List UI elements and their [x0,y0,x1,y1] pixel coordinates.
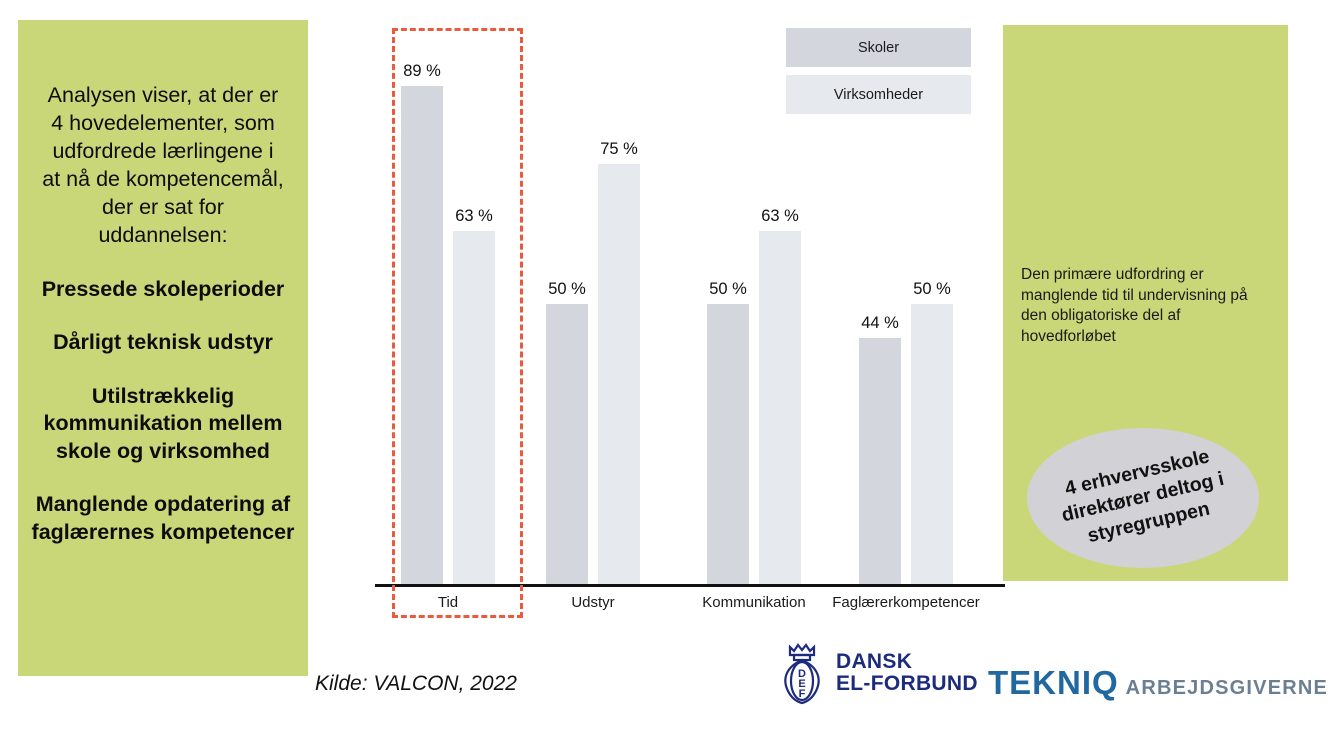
right-panel-note: Den primære udfordring er manglende tid … [1021,265,1266,347]
bar-value-label: 89 % [392,62,452,81]
bar-value-label: 50 % [537,280,597,299]
legend-label: Virksomheder [834,87,923,103]
tekniq-logo: TEKNIQ ARBEJDSGIVERNE [988,664,1328,702]
legend-label: Skoler [858,40,899,56]
key-element-4: Manglende opdatering af faglærernes komp… [30,491,296,546]
legend-item-skoler[interactable]: Skoler [786,28,971,67]
chart-legend: Skoler Virksomheder [786,28,971,122]
bar-value-label: 50 % [902,280,962,299]
bar-tid-virksomheder[interactable] [453,231,495,584]
bar-value-label: 75 % [589,140,649,159]
tekniq-subtitle: ARBEJDSGIVERNE [1126,677,1328,700]
category-label-faglærerkompetencer: Faglærerkompetencer [816,594,996,611]
intro-line: der er sat for [30,194,296,222]
source-note: Kilde: VALCON, 2022 [315,672,517,696]
x-axis-line [375,584,1005,587]
category-label-udstyr: Udstyr [503,594,683,611]
intro-line: at nå de kompetencemål, [30,166,296,194]
dansk-el-forbund-logo: D E F DANSK EL-FORBUND [776,641,978,705]
bar-tid-skoler[interactable] [401,86,443,584]
bar-value-label: 50 % [698,280,758,299]
callout-ellipse: 4 erhvervsskole direktører deltog i styr… [1027,428,1259,568]
bar-value-label: 63 % [750,207,810,226]
key-element-2: Dårligt teknisk udstyr [30,329,296,357]
bar-value-label: 44 % [850,314,910,333]
bar-faglærerkompetencer-skoler[interactable] [859,338,901,584]
def-line2: EL-FORBUND [836,673,978,695]
intro-line: uddannelsen: [30,222,296,250]
intro-line: 4 hovedelementer, som [30,110,296,138]
bar-udstyr-virksomheder[interactable] [598,164,640,584]
legend-item-virksomheder[interactable]: Virksomheder [786,75,971,114]
bar-kommunikation-virksomheder[interactable] [759,231,801,584]
bar-udstyr-skoler[interactable] [546,304,588,584]
intro-line: udfordrede lærlingene i [30,138,296,166]
slide-root: Analysen viser, at der er 4 hovedelement… [0,0,1333,750]
key-element-3: Utilstrækkelig kommunikation mellem skol… [30,383,296,466]
def-wordmark: DANSK EL-FORBUND [836,651,978,695]
callout-text: 4 erhvervsskole direktører deltog i styr… [1027,428,1259,568]
left-green-panel: Analysen viser, at der er 4 hovedelement… [18,20,308,676]
bar-kommunikation-skoler[interactable] [707,304,749,584]
svg-text:F: F [799,688,806,700]
left-panel-text: Analysen viser, at der er 4 hovedelement… [30,82,296,546]
tekniq-wordmark: TEKNIQ [988,664,1119,702]
bar-faglærerkompetencer-virksomheder[interactable] [911,304,953,584]
intro-line: Analysen viser, at der er [30,82,296,110]
key-element-1: Pressede skoleperioder [30,276,296,304]
def-line1: DANSK [836,651,978,673]
def-crest-icon: D E F [776,641,828,705]
bar-value-label: 63 % [444,207,504,226]
